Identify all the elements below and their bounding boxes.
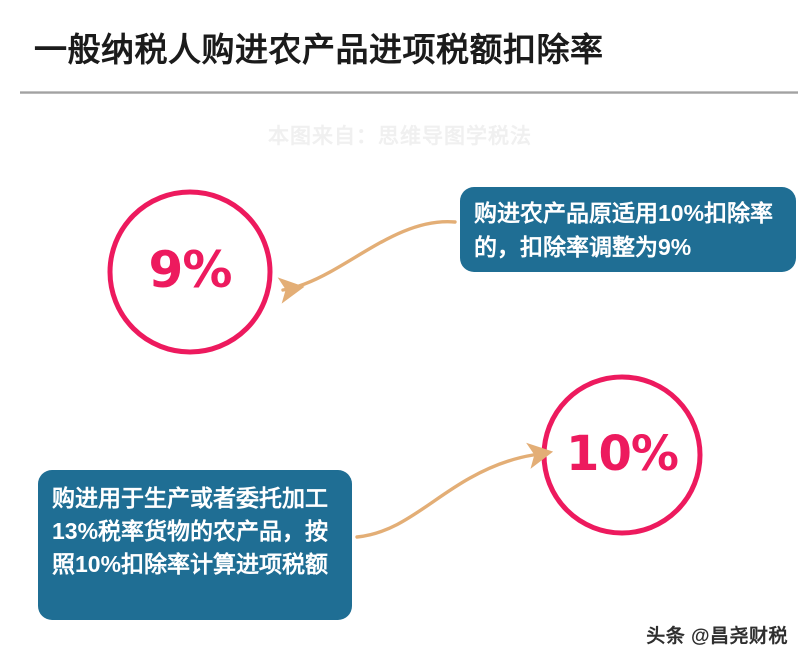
circle-label-rate-10: 10% — [540, 424, 704, 484]
source-watermark: 本图来自：思维导图学税法 — [0, 120, 800, 150]
callout-text-rate-9: 购进农产品原适用10%扣除率的，扣除率调整为9% — [474, 196, 786, 264]
connector-arrow-top — [283, 222, 455, 290]
infographic-canvas: 一般纳税人购进农产品进项税额扣除率 本图来自：思维导图学税法 9% 10% 购进… — [0, 0, 800, 656]
callout-box-rate-9: 购进农产品原适用10%扣除率的，扣除率调整为9% — [460, 187, 796, 272]
title-divider — [20, 91, 798, 94]
callout-box-rate-10: 购进用于生产或者委托加工13%税率货物的农产品，按照10%扣除率计算进项税额 — [38, 470, 352, 620]
author-watermark: 头条 @昌尧财税 — [646, 621, 788, 648]
callout-text-rate-10: 购进用于生产或者委托加工13%税率货物的农产品，按照10%扣除率计算进项税额 — [52, 482, 342, 581]
connector-arrow-bottom — [357, 455, 533, 537]
page-title: 一般纳税人购进农产品进项税额扣除率 — [34, 28, 604, 72]
circle-label-rate-9: 9% — [110, 240, 270, 300]
